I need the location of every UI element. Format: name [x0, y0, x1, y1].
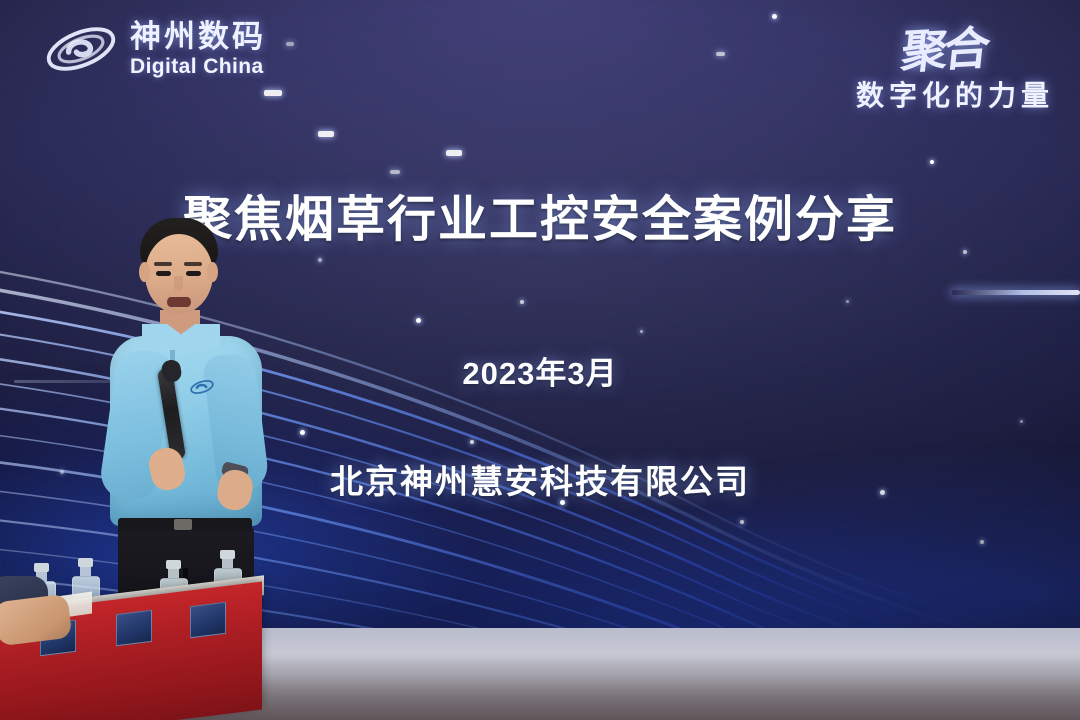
presenter-brow-left — [154, 262, 172, 266]
swirl-e-mark-icon — [42, 18, 120, 80]
digital-china-logo: 神州数码 Digital China — [42, 18, 266, 80]
conference-photo: 神州数码 Digital China 聚合 数字化的力量 聚焦烟草行业工控安全案… — [0, 0, 1080, 720]
bottle-cap — [166, 560, 181, 569]
presenter — [92, 218, 282, 638]
presenter-mouth — [167, 297, 191, 307]
digital-china-chinese: 神州数码 — [130, 21, 266, 52]
event-subtitle: 数字化的力量 — [856, 74, 1054, 114]
bottle-neck — [168, 569, 179, 578]
right-light-streak — [952, 290, 1080, 295]
bottle-neck — [80, 567, 91, 576]
digital-china-english: Digital China — [130, 56, 266, 77]
presenter-eye-left — [156, 271, 171, 276]
bottle-cap — [220, 550, 235, 559]
presenter-nose — [174, 276, 183, 292]
event-calligraphy: 聚合 — [898, 12, 990, 82]
presenter-brow-right — [184, 262, 202, 266]
event-theme-logo: 聚合 数字化的力量 — [856, 14, 1054, 114]
bottle-cap — [34, 563, 49, 572]
bottle-neck — [222, 559, 233, 568]
presenter-ear-right — [207, 262, 218, 282]
chest-logo-icon — [189, 378, 215, 396]
name-card — [190, 602, 226, 638]
presenter-belt-buckle — [174, 519, 192, 530]
bottle-cap — [78, 558, 93, 567]
presenter-ear-left — [139, 262, 150, 282]
presenter-eye-right — [186, 271, 201, 276]
name-card — [116, 610, 152, 646]
